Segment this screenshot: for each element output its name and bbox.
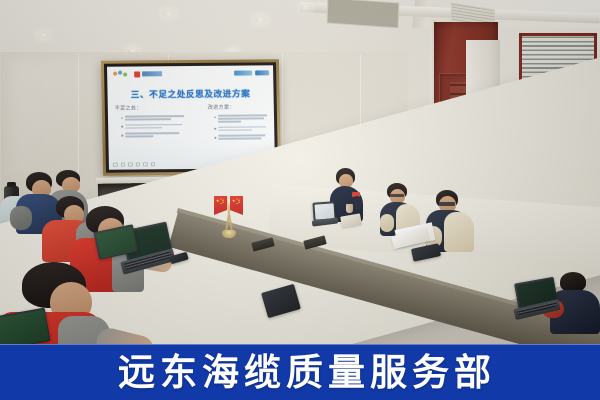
jacket-cream-panel: [444, 212, 474, 252]
chinese-national-flag-pair: [214, 196, 244, 242]
slide-bullet: [214, 126, 267, 131]
downlight: [162, 10, 175, 17]
hair: [560, 272, 586, 292]
downlight: [254, 16, 267, 23]
flag-stand-base: [222, 230, 236, 238]
arm: [10, 206, 32, 230]
rainbow-dots-logo-icon: [112, 71, 129, 78]
flag: [214, 196, 227, 215]
paper-cup: [346, 204, 353, 213]
slide-right-bullets: [198, 114, 267, 140]
toolbar-pointer-icon[interactable]: [113, 162, 118, 167]
toolbar-highlighter-icon[interactable]: [128, 162, 133, 167]
meeting-room-photo: 三、不足之处反思及改进方案 不足之处：: [0, 0, 600, 400]
caption-banner: 远东海缆质量服务部: [0, 344, 600, 400]
slide-left-bullets: [115, 115, 184, 138]
downlight: [300, 4, 311, 10]
banner-top-highlight: [0, 344, 600, 345]
slide-bullet: [121, 124, 184, 129]
slide-left-heading: 不足之处：: [115, 104, 184, 112]
slide-logo-group: [112, 70, 162, 77]
caption-banner-text: 远东海缆质量服务部: [118, 354, 496, 391]
slide-bullet: [214, 135, 267, 140]
slide-header-badges: [234, 70, 269, 75]
toolbar-pen-icon[interactable]: [120, 162, 125, 167]
glasses-icon: [439, 202, 455, 206]
downlight: [38, 32, 49, 38]
glasses-icon: [390, 194, 404, 197]
arm: [352, 196, 362, 210]
slide-bullet: [121, 115, 184, 120]
red-mark-wordmark-logo-icon: [134, 71, 162, 77]
slide-bullet: [214, 114, 267, 122]
slide-right-column: 改进方案：: [191, 103, 275, 151]
slide-left-column: 不足之处：: [108, 104, 192, 152]
arm: [380, 214, 394, 232]
flag: [230, 196, 243, 215]
slide-toolbar[interactable]: [113, 162, 155, 167]
slide-body: 不足之处：: [108, 103, 275, 151]
slide-bullet: [121, 132, 184, 137]
toolbar-more-icon[interactable]: [150, 162, 155, 167]
toolbar-grid-icon[interactable]: [143, 162, 148, 167]
slide-right-heading: 改进方案：: [208, 103, 267, 111]
slide-title: 三、不足之处反思及改进方案: [107, 87, 273, 100]
hvac-vent-icon: [327, 0, 400, 28]
toolbar-eraser-icon[interactable]: [135, 162, 140, 167]
